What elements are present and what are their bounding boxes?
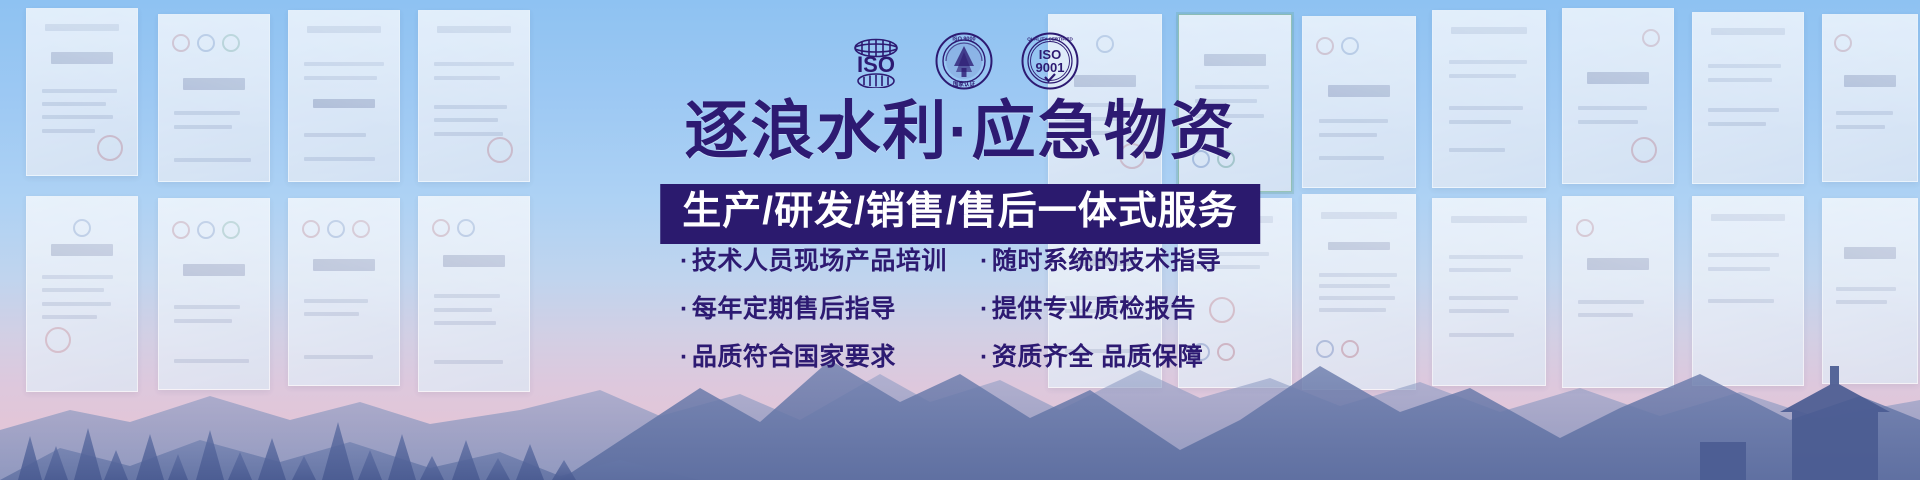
- banner-content: ISO ISO 9000 国家认证: [0, 0, 1920, 480]
- iso-9001-badge-logo: ISO 9001 QUALITY CERTIFIED: [1021, 32, 1079, 90]
- feature-item: ·技术人员现场产品培训: [680, 246, 980, 276]
- promo-banner: ISO ISO 9000 国家认证: [0, 0, 1920, 480]
- feature-text: 随时系统的技术指导: [992, 247, 1222, 275]
- banner-headline: 逐浪水利·应急物资: [0, 98, 1920, 165]
- feature-text: 品质符合国家要求: [692, 343, 896, 371]
- banner-subtitle-text: 生产/研发/销售/售后一体式服务: [682, 191, 1238, 234]
- bullet-dot: ·: [680, 343, 689, 371]
- feature-item: ·每年定期售后指导: [680, 294, 980, 324]
- bullet-dot: ·: [680, 247, 689, 275]
- bullet-dot: ·: [980, 343, 989, 371]
- certification-logo-strip: ISO ISO 9000 国家认证: [845, 32, 1079, 90]
- bullet-dot: ·: [980, 247, 989, 275]
- svg-text:9001: 9001: [1036, 60, 1065, 75]
- bullet-dot: ·: [980, 295, 989, 323]
- svg-text:国家认证: 国家认证: [953, 80, 976, 88]
- feature-text: 技术人员现场产品培训: [692, 247, 947, 275]
- svg-text:QUALITY CERTIFIED: QUALITY CERTIFIED: [1027, 37, 1073, 42]
- feature-item: ·品质符合国家要求: [680, 342, 980, 372]
- iso-9000-seal-logo: ISO 9000 国家认证: [935, 32, 993, 90]
- svg-text:ISO 9000: ISO 9000: [952, 37, 975, 43]
- bullet-dot: ·: [680, 295, 689, 323]
- iso-globe-logo: ISO: [845, 34, 907, 88]
- svg-text:ISO: ISO: [857, 52, 895, 77]
- feature-text: 每年定期售后指导: [692, 295, 896, 323]
- feature-item: ·提供专业质检报告: [980, 294, 1240, 324]
- banner-subtitle-bar: 生产/研发/销售/售后一体式服务: [660, 184, 1260, 244]
- feature-text: 资质齐全 品质保障: [992, 343, 1203, 371]
- feature-text: 提供专业质检报告: [992, 295, 1196, 323]
- feature-item: ·资质齐全 品质保障: [980, 342, 1240, 372]
- feature-item: ·随时系统的技术指导: [980, 246, 1240, 276]
- feature-list: ·技术人员现场产品培训 ·随时系统的技术指导 ·每年定期售后指导 ·提供专业质检…: [680, 246, 1240, 372]
